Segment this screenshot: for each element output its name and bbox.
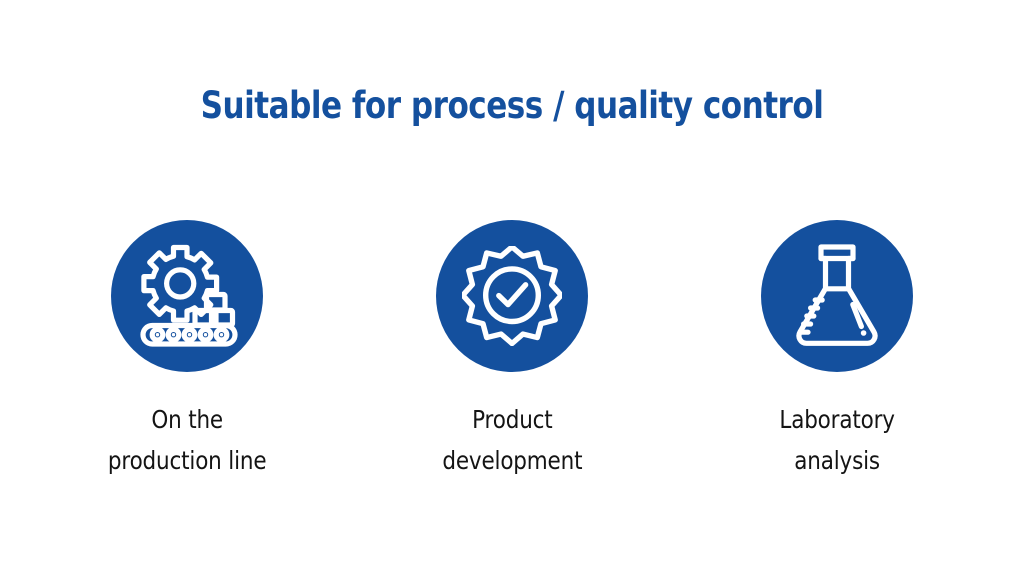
icon-badge-production-line [111, 220, 263, 372]
feature-card-label: On the production line [108, 400, 267, 481]
slide-canvas: Suitable for process / quality control [0, 0, 1024, 576]
icon-badge-product-development [436, 220, 588, 372]
feature-card-production-line: On the production line [25, 220, 350, 481]
feature-card-label-line1: On the [108, 400, 267, 441]
feature-card-label: Product development [442, 400, 582, 481]
feature-card-label-line2: production line [108, 441, 267, 482]
feature-card-product-development: Product development [350, 220, 675, 481]
quality-badge-check-icon [462, 246, 562, 346]
feature-card-label-line1: Laboratory [779, 400, 894, 441]
feature-card-label: Laboratory analysis [779, 400, 894, 481]
feature-card-label-line1: Product [442, 400, 582, 441]
feature-card-label-line2: analysis [779, 441, 894, 482]
icon-badge-laboratory-analysis [761, 220, 913, 372]
feature-card-label-line2: development [442, 441, 582, 482]
conveyor-gear-icon [134, 244, 240, 348]
page-title: Suitable for process / quality control [82, 84, 942, 127]
feature-card-row: On the production line [0, 220, 1024, 481]
erlenmeyer-flask-icon [794, 244, 880, 348]
feature-card-laboratory-analysis: Laboratory analysis [675, 220, 1000, 481]
